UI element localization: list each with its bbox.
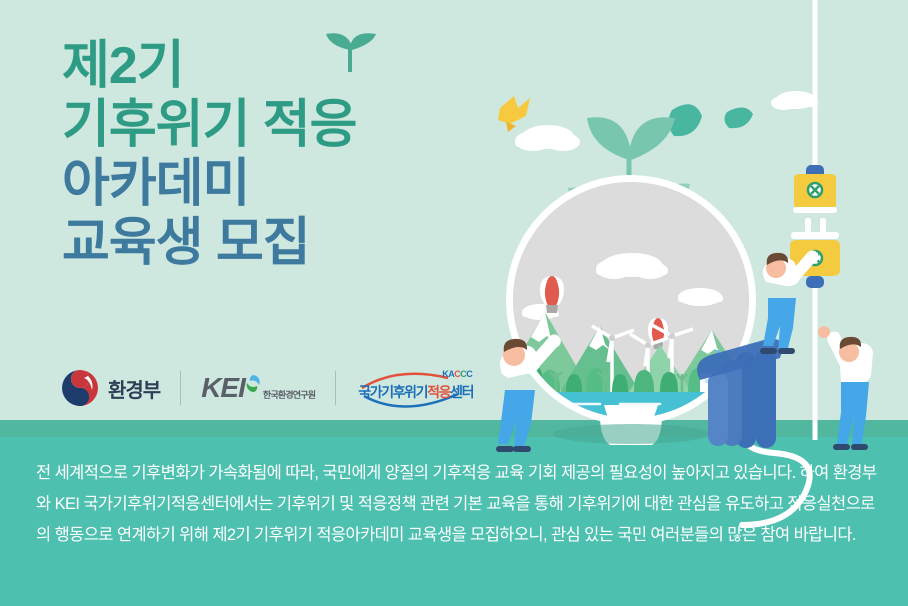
kaccc-name-highlight: 적응: [427, 384, 450, 400]
logo-divider: [180, 371, 181, 405]
logo-ministry-of-environment: 환경부: [60, 368, 160, 408]
sprout-icon: [320, 32, 380, 72]
headline-line-4: 교육생 모집: [62, 217, 462, 270]
kei-subtitle: 한국환경연구원: [263, 388, 315, 404]
headline-line-3: 아카데미: [62, 158, 462, 211]
logo-bar: 환경부 KEI 한국환경연구원 KACCC 국가기후위기적응센터: [60, 362, 474, 414]
ministry-name: 환경부: [108, 374, 160, 403]
leaf-icon: [668, 104, 753, 136]
kaccc-name-prefix: 국가기후위기: [358, 384, 427, 400]
bird-icon: [498, 96, 530, 132]
logo-kei: KEI 한국환경연구원: [201, 372, 315, 404]
kei-wordmark: KEI: [201, 372, 245, 404]
socket-icon: [793, 165, 837, 213]
description-paragraph: 전 세계적으로 기후변화가 가속화됨에 따라, 국민에게 양질의 기후적응 교육…: [36, 458, 886, 551]
logo-divider: [335, 371, 336, 405]
kei-swirl-icon: [245, 374, 261, 394]
bulb-shadow: [553, 424, 709, 444]
kaccc-abbr: KACCC: [442, 369, 472, 379]
headline-line-1: 제2기: [62, 40, 462, 93]
kaccc-name: 국가기후위기적응센터: [358, 382, 473, 402]
person-icon: [760, 250, 819, 354]
taegeuk-icon: [60, 368, 100, 408]
poster-root: 제2기 기후위기 적응 아카데미 교육생 모집 환경부: [0, 0, 908, 606]
page-title: 제2기 기후위기 적응 아카데미 교육생 모집: [62, 40, 462, 276]
logo-kaccc: KACCC 국가기후위기적응센터: [356, 366, 474, 410]
headline-line-2: 기후위기 적응: [62, 99, 462, 152]
plug-prongs-icon: [791, 218, 839, 239]
person-icon: [818, 326, 873, 450]
kaccc-name-suffix: 센터: [450, 384, 473, 400]
description-text: 전 세계적으로 기후변화가 가속화됨에 따라, 국민에게 양질의 기후적응 교육…: [36, 458, 886, 551]
